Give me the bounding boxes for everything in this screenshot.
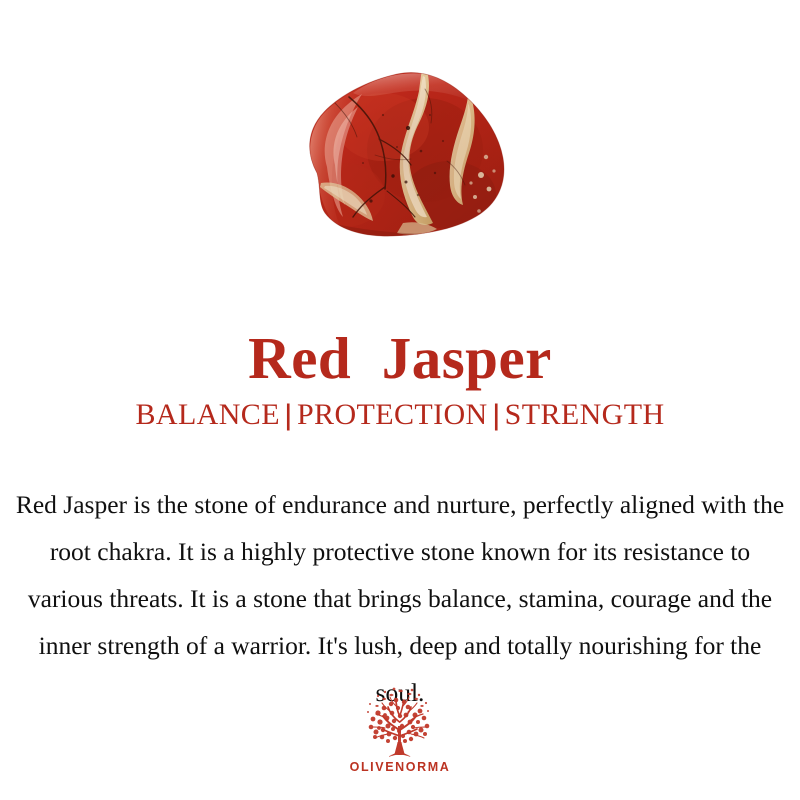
stone-image-container: [0, 52, 800, 257]
red-jasper-tumbled-stone-icon: [275, 55, 525, 255]
keyword-separator-1: |: [278, 398, 299, 433]
keyword-strength: STRENGTH: [505, 398, 665, 431]
keyword-balance: BALANCE: [135, 398, 279, 431]
tree-of-life-icon: [358, 686, 442, 758]
brand-wordmark: OLIVENORMA: [350, 761, 451, 774]
page-title: Red Jasper: [0, 328, 800, 390]
brand-logo: OLIVENORMA: [0, 686, 800, 774]
keyword-protection: PROTECTION: [297, 398, 488, 431]
description-paragraph: Red Jasper is the stone of endurance and…: [14, 481, 786, 716]
keyword-subtitle: BALANCE|PROTECTION|STRENGTH: [0, 398, 800, 433]
keyword-separator-2: |: [485, 398, 506, 433]
red-jasper-info-card: Red Jasper BALANCE|PROTECTION|STRENGTH R…: [0, 0, 800, 800]
